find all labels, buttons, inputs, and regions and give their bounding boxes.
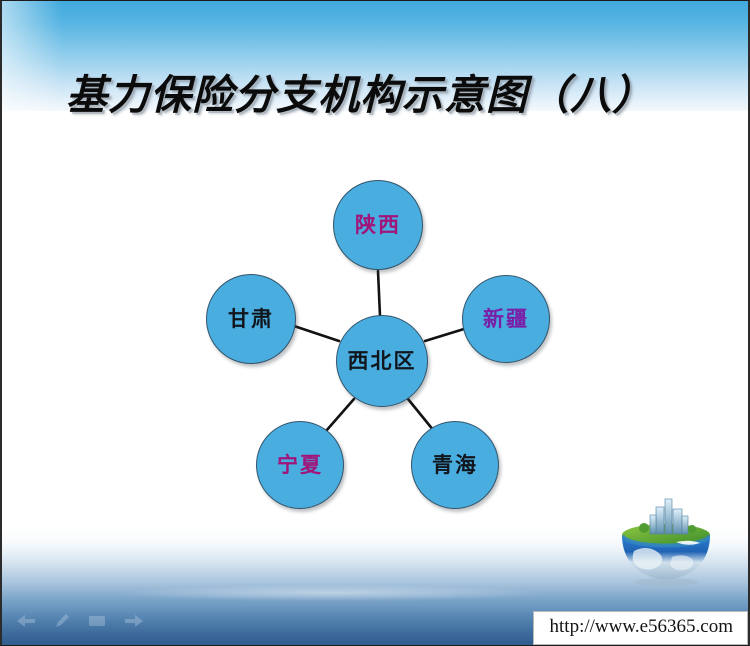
edge-center-qinghai [408, 399, 434, 431]
node-center-label: 西北区 [348, 350, 417, 371]
node-xinjiang[interactable]: 新疆 [462, 275, 550, 363]
node-center[interactable]: 西北区 [336, 315, 428, 407]
previous-arrow-icon[interactable] [16, 614, 36, 628]
node-shaanxi-label: 陕西 [355, 214, 401, 235]
node-gansu[interactable]: 甘肃 [206, 274, 296, 364]
website-url-text: http://www.e56365.com [550, 616, 733, 637]
node-qinghai-label: 青海 [432, 454, 478, 475]
node-shaanxi[interactable]: 陕西 [333, 180, 423, 270]
edge-center-xinjiang [425, 329, 464, 341]
node-gansu-label: 甘肃 [228, 308, 274, 329]
edge-center-shaanjxi [378, 271, 380, 316]
node-ningxia-label: 宁夏 [277, 454, 323, 475]
next-arrow-icon[interactable] [124, 614, 144, 628]
presentation-slide: 基力保险分支机构示意图（八） 西北区 陕西 甘肃 新疆 宁夏 [0, 0, 750, 646]
presentation-nav-bar[interactable] [16, 613, 144, 629]
node-qinghai[interactable]: 青海 [411, 421, 499, 509]
pen-icon[interactable] [54, 613, 70, 629]
edge-center-ningxia [326, 399, 354, 431]
node-xinjiang-label: 新疆 [483, 308, 529, 329]
website-url-plate[interactable]: http://www.e56365.com [533, 611, 748, 645]
node-ningxia[interactable]: 宁夏 [256, 421, 344, 509]
globe-city-logo [614, 495, 718, 587]
edge-center-gansu [294, 326, 339, 341]
slide-menu-icon[interactable] [88, 614, 106, 628]
